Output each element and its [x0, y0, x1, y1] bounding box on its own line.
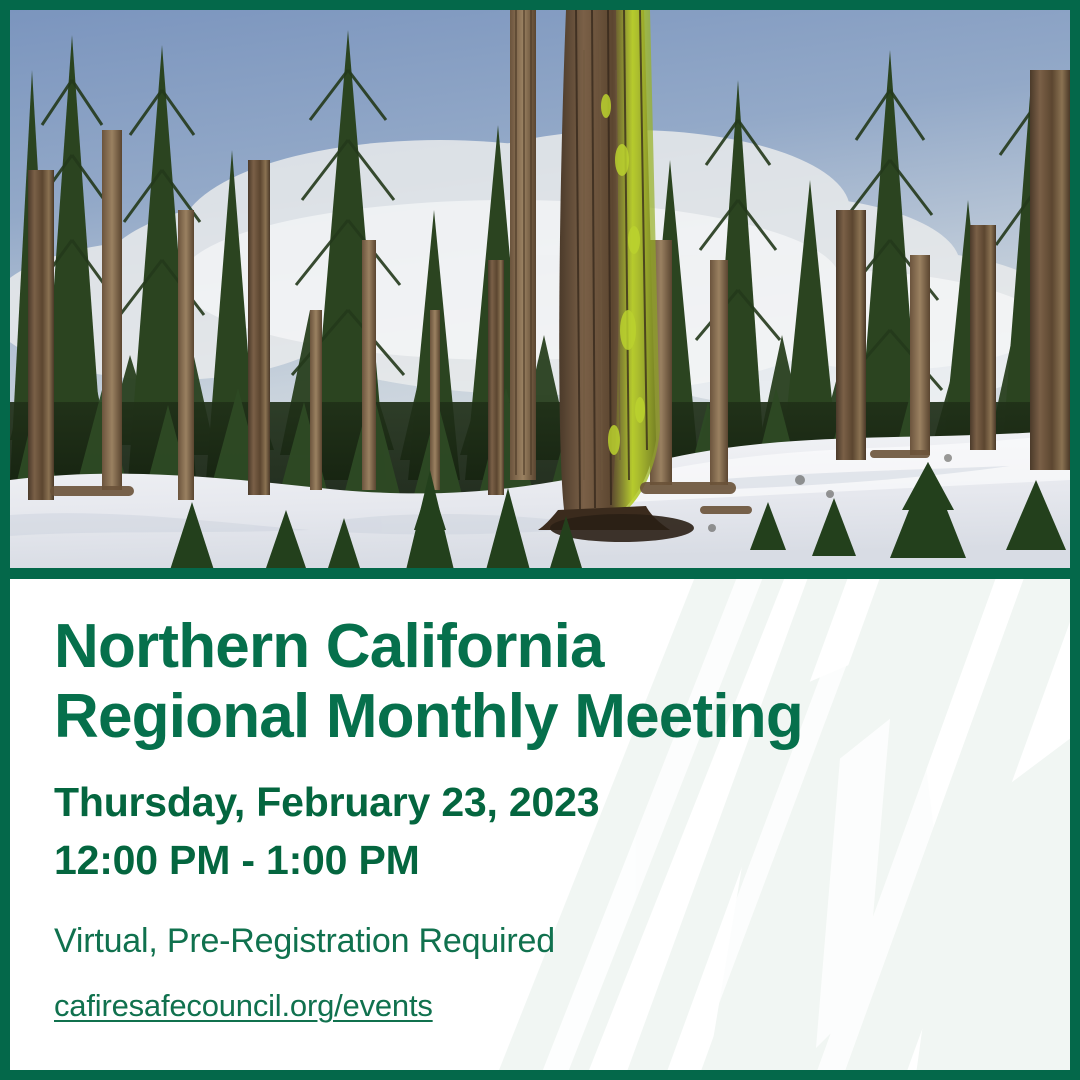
- forest-photo: [10, 10, 1070, 568]
- event-time: 12:00 PM - 1:00 PM: [54, 835, 1070, 886]
- flyer-inner: Northern California Regional Monthly Mee…: [10, 10, 1070, 1070]
- event-flyer: Northern California Regional Monthly Mee…: [0, 0, 1080, 1080]
- title-line-2: Regional Monthly Meeting: [54, 682, 954, 752]
- details-panel: Northern California Regional Monthly Mee…: [10, 579, 1070, 1070]
- registration-link[interactable]: cafiresafecouncil.org/events: [54, 988, 433, 1024]
- photo-divider: [10, 568, 1070, 579]
- forest-photo-illustration: [10, 10, 1070, 568]
- event-date: Thursday, February 23, 2023: [54, 777, 1070, 828]
- event-format: Virtual, Pre-Registration Required: [54, 919, 1070, 963]
- title-line-1: Northern California: [54, 612, 954, 682]
- page-title: Northern California Regional Monthly Mee…: [54, 612, 954, 752]
- details-content: Northern California Regional Monthly Mee…: [10, 579, 1070, 1024]
